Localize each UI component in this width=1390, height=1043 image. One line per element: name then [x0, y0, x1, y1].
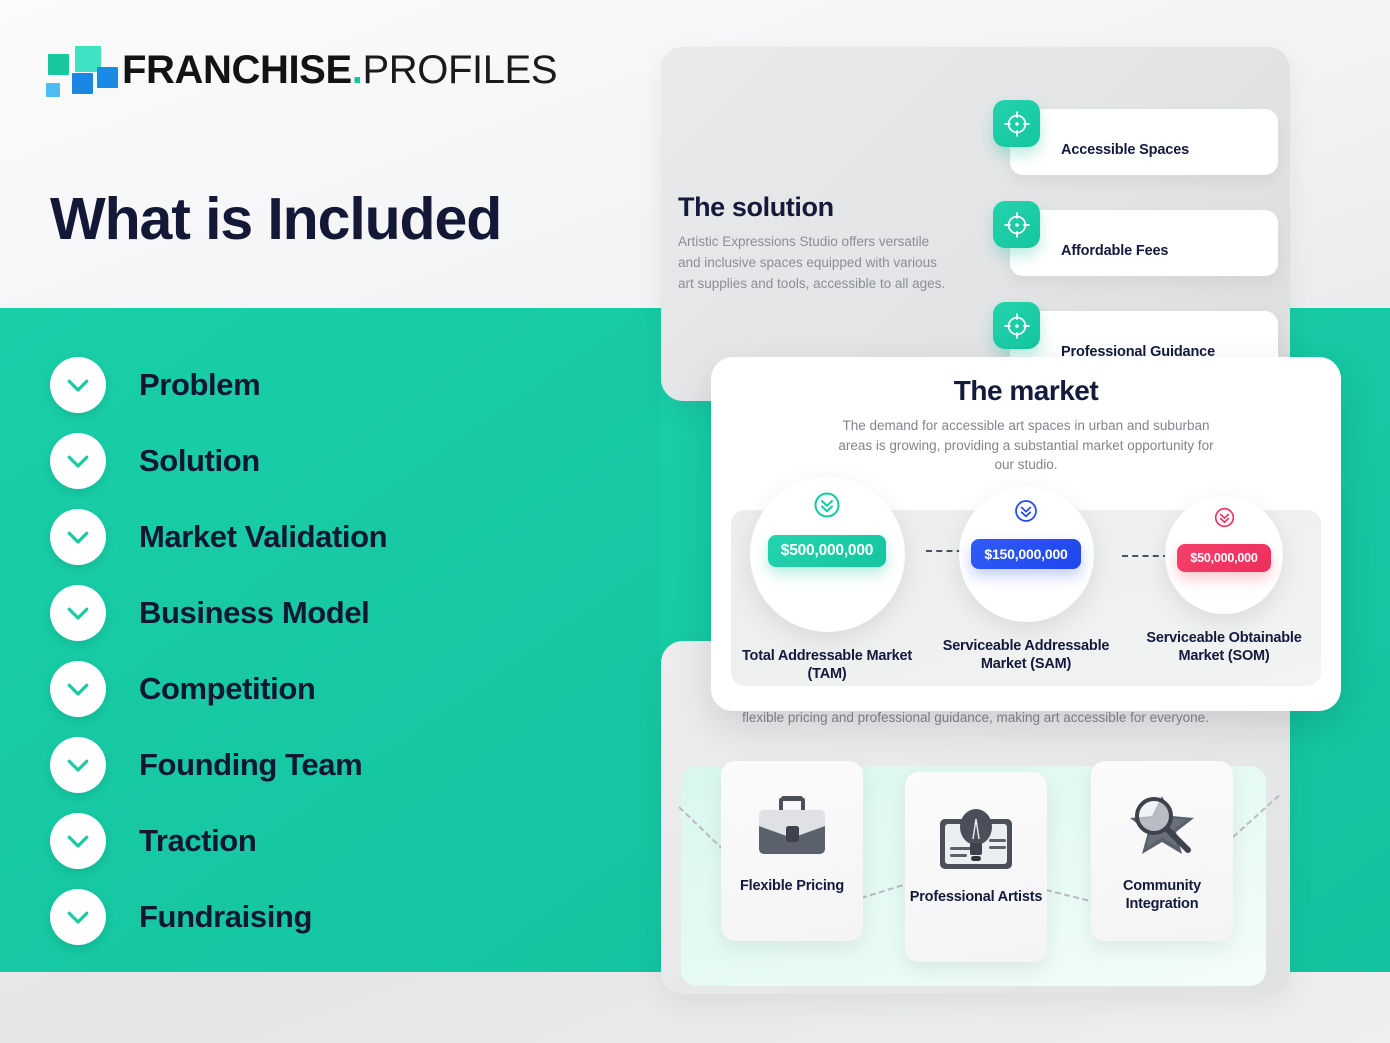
list-item-problem[interactable]: Problem	[50, 347, 610, 423]
list-item-competition[interactable]: Competition	[50, 651, 610, 727]
brand-wordmark: FRANCHISE.PROFILES	[122, 50, 557, 90]
feature-label: Accessible Spaces	[1061, 142, 1189, 158]
feature-label: Affordable Fees	[1061, 243, 1168, 259]
chevron-down-icon	[50, 737, 106, 793]
slide-canvas: FRANCHISE.PROFILES What is Included Prob…	[0, 0, 1390, 1043]
market-value-badge: $50,000,000	[1177, 544, 1270, 572]
list-item-market-validation[interactable]: Market Validation	[50, 499, 610, 575]
target-crosshair-icon	[993, 100, 1040, 147]
market-segment-tam[interactable]: $500,000,000 Total Addressable Market (T…	[727, 477, 927, 683]
badge-magnifier-icon	[1118, 781, 1206, 873]
list-item-label: Market Validation	[139, 519, 387, 555]
market-bubble: $500,000,000	[750, 477, 905, 632]
solution-description: Artistic Expressions Studio offers versa…	[678, 232, 948, 295]
list-item-label: Competition	[139, 671, 315, 707]
benefit-card-flexible-pricing[interactable]: Flexible Pricing	[721, 761, 863, 941]
chevron-down-icon	[50, 585, 106, 641]
market-bubble: $50,000,000	[1165, 496, 1283, 614]
briefcase-icon	[751, 781, 833, 873]
list-item-solution[interactable]: Solution	[50, 423, 610, 499]
double-chevron-down-icon	[1213, 506, 1236, 534]
market-segment-label: Serviceable Obtainable Market (SOM)	[1124, 630, 1324, 665]
chevron-down-icon	[50, 661, 106, 717]
market-segment-sam[interactable]: $150,000,000 Serviceable Addressable Mar…	[926, 477, 1126, 673]
list-item-label: Traction	[139, 823, 256, 859]
lightbulb-board-icon	[932, 792, 1020, 884]
market-value-badge: $500,000,000	[768, 535, 886, 567]
list-item-label: Business Model	[139, 595, 369, 631]
benefit-card-label: Community Integration	[1091, 877, 1233, 913]
list-item-label: Fundraising	[139, 899, 312, 935]
list-item-label: Problem	[139, 367, 260, 403]
chevron-down-icon	[50, 357, 106, 413]
market-description: The demand for accessible art spaces in …	[831, 416, 1221, 475]
list-item-fundraising[interactable]: Fundraising	[50, 879, 610, 955]
benefit-card-community-integration[interactable]: Community Integration	[1091, 761, 1233, 941]
page-title: What is Included	[50, 187, 501, 252]
double-chevron-down-icon	[812, 490, 842, 525]
market-segment-list: $500,000,000 Total Addressable Market (T…	[711, 477, 1341, 707]
list-item-traction[interactable]: Traction	[50, 803, 610, 879]
double-chevron-down-icon	[1013, 498, 1039, 529]
chevron-down-icon	[50, 509, 106, 565]
solution-title: The solution	[678, 192, 834, 223]
market-panel: The market The demand for accessible art…	[711, 357, 1341, 711]
list-item-label: Solution	[139, 443, 260, 479]
brand-name-bold: FRANCHISE	[122, 48, 352, 92]
market-title: The market	[711, 375, 1341, 407]
market-segment-som[interactable]: $50,000,000 Serviceable Obtainable Marke…	[1124, 477, 1324, 665]
market-value-badge: $150,000,000	[971, 539, 1080, 569]
solution-panel: The solution Artistic Expressions Studio…	[661, 47, 1290, 401]
market-segment-label: Serviceable Addressable Market (SAM)	[926, 638, 1126, 673]
target-crosshair-icon	[993, 201, 1040, 248]
benefit-card-label: Flexible Pricing	[740, 877, 844, 895]
list-item-label: Founding Team	[139, 747, 362, 783]
target-crosshair-icon	[993, 302, 1040, 349]
benefit-card-label: Professional Artists	[910, 888, 1042, 906]
feature-row[interactable]: Affordable Fees	[993, 201, 1283, 302]
brand-name-light: PROFILES	[362, 48, 557, 92]
list-item-founding-team[interactable]: Founding Team	[50, 727, 610, 803]
benefit-card-professional-artists[interactable]: Professional Artists	[905, 772, 1047, 962]
squares-logo-icon	[46, 46, 108, 94]
chevron-down-icon	[50, 433, 106, 489]
contents-list: Problem Solution Market Validation Busin…	[50, 347, 610, 955]
market-segment-label: Total Addressable Market (TAM)	[727, 648, 927, 683]
feature-row[interactable]: Accessible Spaces	[993, 100, 1283, 201]
brand-name-dot: .	[352, 48, 363, 92]
chevron-down-icon	[50, 813, 106, 869]
list-item-business-model[interactable]: Business Model	[50, 575, 610, 651]
brand-logo[interactable]: FRANCHISE.PROFILES	[46, 46, 557, 94]
market-bubble: $150,000,000	[959, 487, 1094, 622]
chevron-down-icon	[50, 889, 106, 945]
